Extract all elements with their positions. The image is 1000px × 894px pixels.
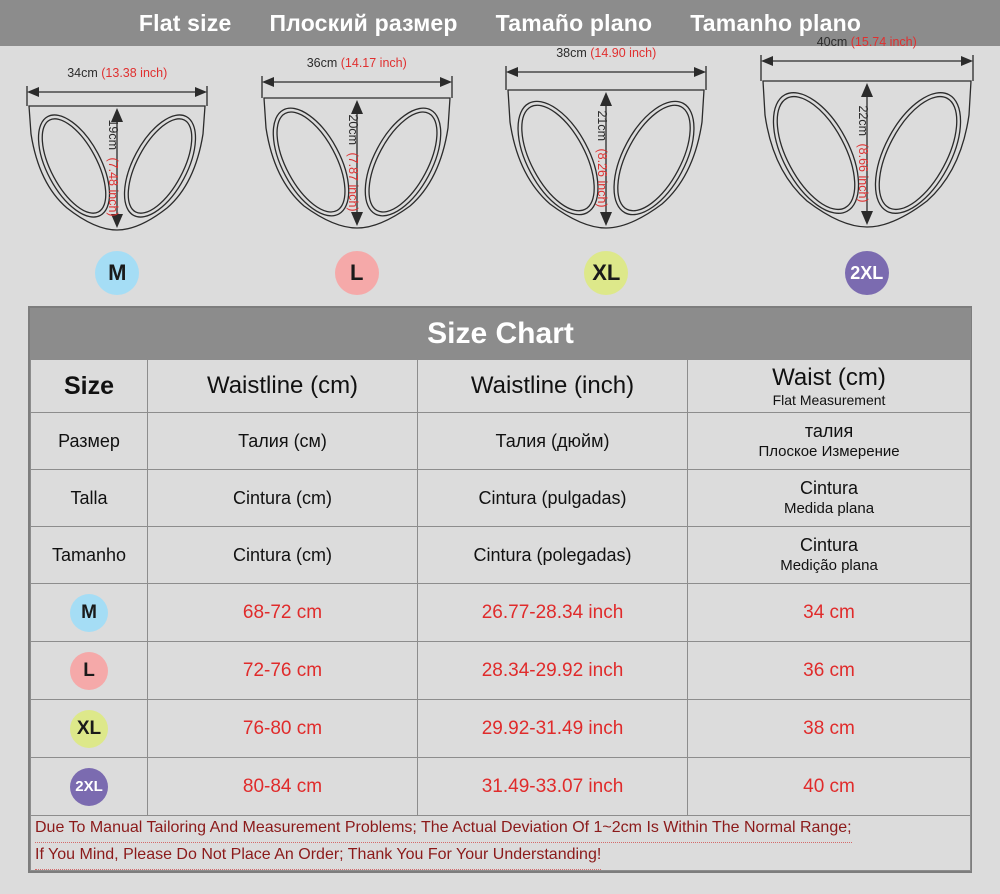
lang-waist-pt: Cintura Medição plana (688, 527, 971, 584)
width-inch-m: (13.38 inch) (101, 66, 167, 80)
row-waist-cm-l: 36 cm (688, 642, 971, 700)
lang-waistline-inch-es: Cintura (pulgadas) (418, 470, 688, 527)
row-waist-cm-xl: 38 cm (688, 700, 971, 758)
row-waistline-cm-l: 72-76 cm (148, 642, 418, 700)
row-size-badge-m: M (31, 584, 148, 642)
lang-waist-sub-es: Medida plana (692, 500, 966, 518)
width-inch-2xl: (15.74 inch) (851, 35, 917, 49)
size-badge-2xl: 2XL (845, 251, 889, 295)
lang-waist-main-pt: Cintura (692, 535, 966, 557)
table-size-badge-xl: XL (70, 710, 108, 748)
size-badge-label-l: L (350, 262, 363, 284)
row-size-badge-xl: XL (31, 700, 148, 758)
row-waist-cm-2xl: 40 cm (688, 758, 971, 816)
garment-diagram-l: 36cm (14.17 inch) 20cm (7.87 inch) (252, 56, 462, 299)
size-chart-table: Size Chart Size Waistline (cm) Waistline… (30, 308, 971, 871)
row-waistline-inch-m: 26.77-28.34 inch (418, 584, 688, 642)
garment-diagram-2xl: 40cm (15.74 inch) 22cm (8.66 inch) (751, 35, 983, 299)
table-row: M 68-72 cm 26.77-28.34 inch 34 cm (31, 584, 971, 642)
height-cm-l: 20cm (346, 114, 360, 145)
width-cm-m: 34cm (67, 66, 98, 80)
lang-size-ru: Размер (31, 413, 148, 470)
table-size-badge-label-xl: XL (77, 719, 101, 738)
lang-size-pt: Tamanho (31, 527, 148, 584)
header-waist-cm: Waist (cm) Flat Measurement (688, 360, 971, 413)
height-cm-2xl: 22cm (856, 105, 870, 136)
height-cm-m: 19cm (106, 119, 120, 150)
size-badge-m: M (95, 251, 139, 295)
language-label-spanish: Tamaño plano (496, 10, 653, 37)
garment-diagram-m: 34cm (13.38 inch) 19cm (17, 66, 217, 299)
table-row: 2XL 80-84 cm 31.49-33.07 inch 40 cm (31, 758, 971, 816)
height-inch-m: (7.48 inch) (106, 158, 120, 217)
height-inch-l: (7.87 inch) (346, 153, 360, 212)
width-cm-xl: 38cm (556, 46, 587, 60)
header-waistline-cm: Waistline (cm) (148, 360, 418, 413)
table-size-badge-label-l: L (83, 661, 95, 680)
size-chart-table-container: Size Chart Size Waistline (cm) Waistline… (28, 306, 972, 873)
size-badge-l: L (335, 251, 379, 295)
height-dimension-label-2xl: 22cm (8.66 inch) (856, 105, 870, 202)
lang-size-es: Talla (31, 470, 148, 527)
table-title-row: Size Chart (31, 309, 971, 360)
lang-waistline-cm-es: Cintura (cm) (148, 470, 418, 527)
table-row: Tamanho Cintura (cm) Cintura (polegadas)… (31, 527, 971, 584)
height-inch-xl: (8.26 inch) (595, 149, 609, 208)
table-row: L 72-76 cm 28.34-29.92 inch 36 cm (31, 642, 971, 700)
row-waistline-cm-xl: 76-80 cm (148, 700, 418, 758)
header-waist-cm-sub: Flat Measurement (692, 392, 966, 408)
garment-diagram-xl: 38cm (14.90 inch) 21cm (8.26 inch) (496, 46, 716, 299)
row-waistline-cm-m: 68-72 cm (148, 584, 418, 642)
height-dimension-label-xl: 21cm (8.26 inch) (595, 110, 609, 207)
height-dimension-label-m: 19cm (7.48 inch) (106, 119, 120, 216)
row-waist-cm-m: 34 cm (688, 584, 971, 642)
table-size-badge-2xl: 2XL (70, 768, 108, 806)
width-dimension-label-xl: 38cm (14.90 inch) (556, 46, 656, 60)
table-note-row: Due To Manual Tailoring And Measurement … (31, 816, 971, 871)
language-label-russian: Плоский размер (269, 10, 457, 37)
table-title: Size Chart (31, 309, 971, 360)
lang-waistline-cm-pt: Cintura (cm) (148, 527, 418, 584)
width-cm-l: 36cm (307, 56, 338, 70)
lang-waist-ru: талия Плоское Измерение (688, 413, 971, 470)
row-waistline-inch-xl: 29.92-31.49 inch (418, 700, 688, 758)
row-waistline-cm-2xl: 80-84 cm (148, 758, 418, 816)
language-label-english: Flat size (139, 10, 232, 37)
table-size-badge-m: M (70, 594, 108, 632)
header-size: Size (31, 360, 148, 413)
width-dimension-label-l: 36cm (14.17 inch) (307, 56, 407, 70)
disclaimer-line-1: Due To Manual Tailoring And Measurement … (35, 816, 852, 843)
width-dimension-label-2xl: 40cm (15.74 inch) (817, 35, 917, 49)
briefs-illustration-2xl: 22cm (8.66 inch) (751, 49, 983, 245)
lang-waistline-inch-ru: Талия (дюйм) (418, 413, 688, 470)
size-badge-xl: XL (584, 251, 628, 295)
lang-waistline-cm-ru: Талия (см) (148, 413, 418, 470)
briefs-illustration-m: 19cm (7.48 inch) (17, 80, 217, 245)
lang-waist-main-ru: талия (692, 421, 966, 443)
size-badge-label-2xl: 2XL (850, 264, 883, 282)
table-row: XL 76-80 cm 29.92-31.49 inch 38 cm (31, 700, 971, 758)
row-waistline-inch-2xl: 31.49-33.07 inch (418, 758, 688, 816)
lang-waist-main-es: Cintura (692, 478, 966, 500)
language-label-portuguese: Tamanho plano (690, 10, 861, 37)
width-dimension-label-m: 34cm (13.38 inch) (67, 66, 167, 80)
briefs-illustration-xl: 21cm (8.26 inch) (496, 60, 716, 245)
lang-waistline-inch-pt: Cintura (polegadas) (418, 527, 688, 584)
height-cm-xl: 21cm (595, 110, 609, 141)
row-waistline-inch-l: 28.34-29.92 inch (418, 642, 688, 700)
height-inch-2xl: (8.66 inch) (856, 144, 870, 203)
table-row: Talla Cintura (cm) Cintura (pulgadas) Ci… (31, 470, 971, 527)
table-header-row: Size Waistline (cm) Waistline (inch) Wai… (31, 360, 971, 413)
row-size-badge-l: L (31, 642, 148, 700)
size-badge-label-m: M (108, 262, 126, 284)
header-waistline-inch: Waistline (inch) (418, 360, 688, 413)
table-row: Размер Талия (см) Талия (дюйм) талия Пло… (31, 413, 971, 470)
height-dimension-label-l: 20cm (7.87 inch) (346, 114, 360, 211)
garment-diagram-strip: 34cm (13.38 inch) 19cm (0, 46, 1000, 299)
briefs-illustration-l: 20cm (7.87 inch) (252, 70, 462, 245)
lang-waist-sub-pt: Medição plana (692, 557, 966, 575)
table-size-badge-label-2xl: 2XL (75, 779, 103, 794)
disclaimer-line-2: If You Mind, Please Do Not Place An Orde… (35, 843, 601, 870)
width-inch-xl: (14.90 inch) (590, 46, 656, 60)
lang-waist-es: Cintura Medida plana (688, 470, 971, 527)
lang-waist-sub-ru: Плоское Измерение (692, 443, 966, 461)
size-badge-label-xl: XL (592, 262, 620, 284)
table-size-badge-l: L (70, 652, 108, 690)
table-size-badge-label-m: M (81, 603, 97, 622)
header-waist-cm-main: Waist (cm) (692, 364, 966, 392)
width-inch-l: (14.17 inch) (341, 56, 407, 70)
disclaimer-note: Due To Manual Tailoring And Measurement … (31, 816, 971, 871)
row-size-badge-2xl: 2XL (31, 758, 148, 816)
width-cm-2xl: 40cm (817, 35, 848, 49)
